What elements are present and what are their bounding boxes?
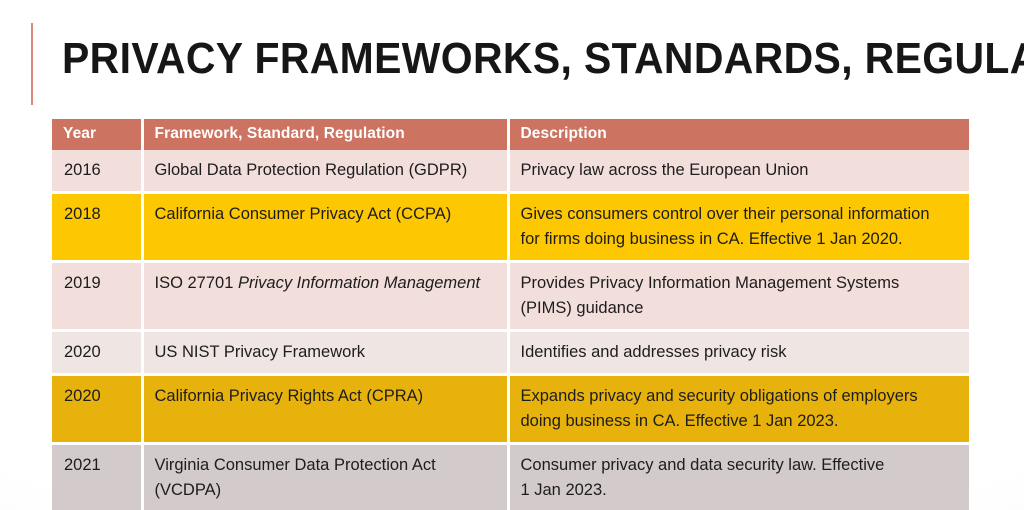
table-body: 2016 Global Data Protection Regulation (… <box>52 150 969 510</box>
cell-description: Identifies and addresses privacy risk <box>508 331 969 375</box>
framework-line-1: Virginia Consumer Data Protection Act <box>155 453 493 478</box>
description-line-1: Expands privacy and security obligations… <box>521 384 956 409</box>
cell-framework: ISO 27701 Privacy Information Management <box>142 262 508 331</box>
framework-text-part: Global Data Protection Regulation (GDPR) <box>155 161 468 179</box>
framework-text-part: California Consumer Privacy Act (CCPA) <box>155 205 452 223</box>
cell-description: Gives consumers control over their perso… <box>508 193 969 262</box>
cell-description-text: Consumer privacy and data security law. … <box>510 445 970 510</box>
cell-description-text: Gives consumers control over their perso… <box>510 194 970 260</box>
column-header-description: Description <box>508 119 969 150</box>
cell-framework: US NIST Privacy Framework <box>142 331 508 375</box>
title-block: PRIVACY FRAMEWORKS, STANDARDS, REGULATIO… <box>0 16 1024 106</box>
framework-text-italic: Privacy Information Management <box>238 274 480 292</box>
column-header-framework-label: Framework, Standard, Regulation <box>144 119 507 143</box>
cell-description: Privacy law across the European Union <box>508 150 969 193</box>
cell-description-text: Identifies and addresses privacy risk <box>510 332 970 373</box>
cell-framework: Virginia Consumer Data Protection Act (V… <box>142 444 508 510</box>
cell-framework: California Privacy Rights Act (CPRA) <box>142 375 508 444</box>
cell-year: 2018 <box>52 193 142 262</box>
cell-framework: Global Data Protection Regulation (GDPR) <box>142 150 508 193</box>
description-line-1: Provides Privacy Information Management … <box>521 271 956 296</box>
cell-year-text: 2019 <box>52 263 141 304</box>
table-row: 2018 California Consumer Privacy Act (CC… <box>52 193 969 262</box>
framework-text-part: ISO 27701 <box>155 274 238 292</box>
slide-canvas: PRIVACY FRAMEWORKS, STANDARDS, REGULATIO… <box>0 0 1024 510</box>
table-header: Year Framework, Standard, Regulation Des… <box>52 119 969 150</box>
column-header-year: Year <box>52 119 142 150</box>
framework-text-part: California Privacy Rights Act (CPRA) <box>155 387 424 405</box>
cell-framework-text: ISO 27701 Privacy Information Management <box>144 263 507 304</box>
cell-year: 2021 <box>52 444 142 510</box>
title-accent-bar <box>31 23 33 105</box>
description-line-2: for firms doing business in CA. Effectiv… <box>521 227 956 252</box>
cell-framework-text: Global Data Protection Regulation (GDPR) <box>144 150 507 191</box>
description-line-1: Gives consumers control over their perso… <box>521 202 956 227</box>
cell-description: Expands privacy and security obligations… <box>508 375 969 444</box>
cell-description: Provides Privacy Information Management … <box>508 262 969 331</box>
cell-year-text: 2018 <box>52 194 141 235</box>
description-line-1: Privacy law across the European Union <box>521 158 956 183</box>
description-line-2: (PIMS) guidance <box>521 296 956 321</box>
cell-year: 2020 <box>52 375 142 444</box>
cell-year-text: 2016 <box>52 150 141 191</box>
table-row: 2020 US NIST Privacy Framework Identifie… <box>52 331 969 375</box>
description-line-2: doing business in CA. Effective 1 Jan 20… <box>521 409 956 434</box>
column-header-framework: Framework, Standard, Regulation <box>142 119 508 150</box>
table-row: 2021 Virginia Consumer Data Protection A… <box>52 444 969 510</box>
privacy-frameworks-table: Year Framework, Standard, Regulation Des… <box>52 119 969 510</box>
cell-framework-text: US NIST Privacy Framework <box>144 332 507 373</box>
cell-year-text: 2020 <box>52 376 141 417</box>
table-row: 2020 California Privacy Rights Act (CPRA… <box>52 375 969 444</box>
column-header-description-label: Description <box>510 119 970 143</box>
cell-framework: California Consumer Privacy Act (CCPA) <box>142 193 508 262</box>
cell-year: 2020 <box>52 331 142 375</box>
cell-framework-text: California Privacy Rights Act (CPRA) <box>144 376 507 417</box>
framework-line-2: (VCDPA) <box>155 478 493 503</box>
cell-year: 2019 <box>52 262 142 331</box>
table-header-row: Year Framework, Standard, Regulation Des… <box>52 119 969 150</box>
cell-description: Consumer privacy and data security law. … <box>508 444 969 510</box>
cell-description-text: Privacy law across the European Union <box>510 150 970 191</box>
table-row: 2016 Global Data Protection Regulation (… <box>52 150 969 193</box>
cell-year-text: 2020 <box>52 332 141 373</box>
column-header-year-label: Year <box>52 119 141 143</box>
table-row: 2019 ISO 27701 Privacy Information Manag… <box>52 262 969 331</box>
description-line-1: Consumer privacy and data security law. … <box>521 453 956 478</box>
cell-framework-text: Virginia Consumer Data Protection Act (V… <box>144 445 507 510</box>
cell-framework-text: California Consumer Privacy Act (CCPA) <box>144 194 507 235</box>
page-title: PRIVACY FRAMEWORKS, STANDARDS, REGULATIO… <box>62 16 1024 102</box>
framework-text-part: US NIST Privacy Framework <box>155 343 366 361</box>
cell-description-text: Expands privacy and security obligations… <box>510 376 970 442</box>
description-line-2: 1 Jan 2023. <box>521 478 956 503</box>
cell-year: 2016 <box>52 150 142 193</box>
description-line-1: Identifies and addresses privacy risk <box>521 340 956 365</box>
cell-description-text: Provides Privacy Information Management … <box>510 263 970 329</box>
cell-year-text: 2021 <box>52 445 141 486</box>
